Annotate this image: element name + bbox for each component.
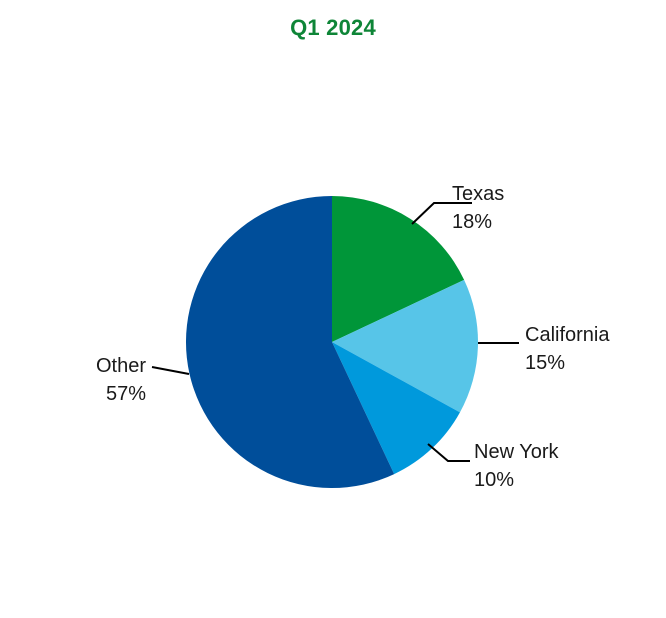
- slice-label-california-value: 15%: [525, 352, 565, 374]
- pie-chart-figure: Q1 2024 Texas 18% California 15% New Yor…: [0, 0, 666, 618]
- leader-line-other: [152, 367, 189, 374]
- leader-line-new-york: [428, 444, 470, 461]
- slice-label-new-york-name: New York: [474, 441, 559, 463]
- pie-chart-canvas: Texas 18% California 15% New York 10% Ot…: [0, 0, 666, 618]
- slice-label-new-york-value: 10%: [474, 469, 514, 491]
- pie-slices: [186, 196, 478, 488]
- slice-label-california-name: California: [525, 324, 610, 346]
- slice-label-other-value: 57%: [106, 383, 146, 405]
- slice-label-other-name: Other: [96, 355, 146, 377]
- slice-label-texas-value: 18%: [452, 211, 492, 233]
- slice-label-texas-name: Texas: [452, 183, 504, 205]
